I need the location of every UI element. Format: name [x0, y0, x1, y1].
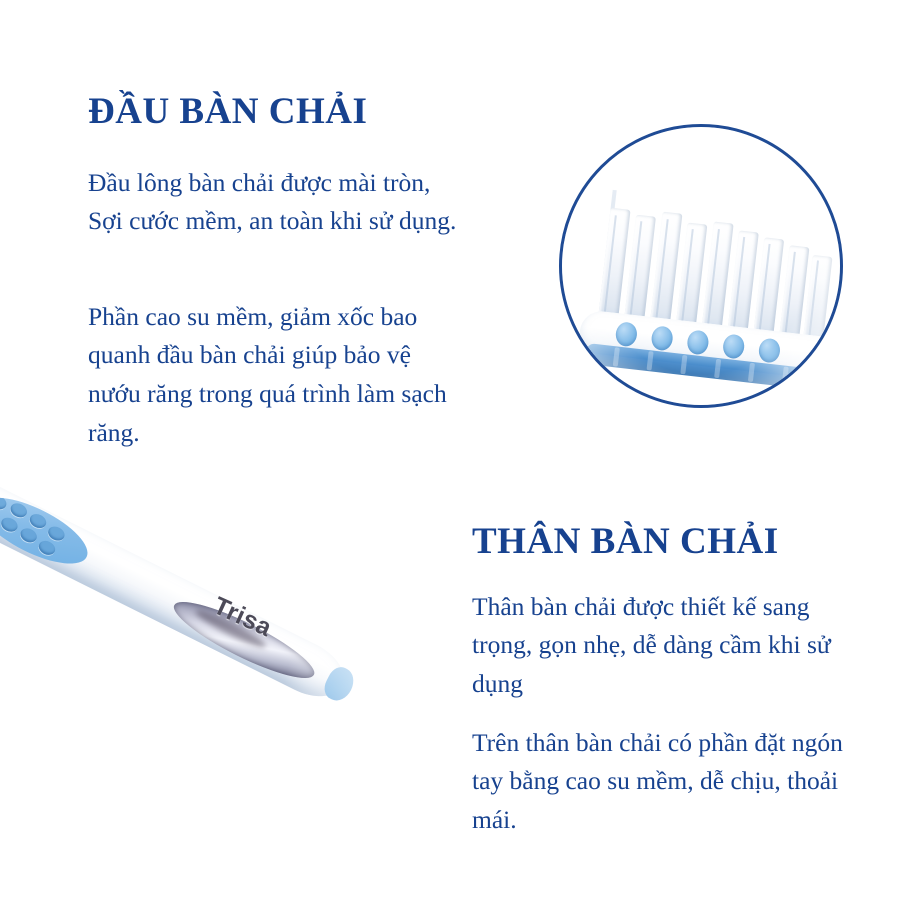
bristle-socket-dot [758, 337, 782, 363]
brush-body-paragraph-1: Thân bàn chải được thiết kế sang trọng, … [472, 588, 862, 704]
brush-body-heading: THÂN BÀN CHẢI [472, 523, 779, 562]
rubber-rib [782, 366, 789, 385]
rubber-rib [714, 359, 721, 378]
grip-dimple [46, 524, 67, 543]
rubber-rib [647, 351, 654, 370]
bristle-socket-dot [650, 325, 674, 351]
handle-shape: Trisa [0, 469, 368, 720]
grip-dimple [28, 511, 49, 530]
rubber-rib [748, 363, 755, 382]
brush-head-paragraph-1: Đầu lông bàn chải được mài tròn, Sợi cướ… [88, 164, 468, 242]
bristle-socket-dot [686, 329, 710, 355]
brush-head-photo-circle [559, 124, 843, 408]
rubber-rib [613, 347, 620, 366]
bristle-tuft [803, 255, 833, 345]
bristle-tuft [753, 237, 784, 339]
brush-handle-photo: Trisa [0, 452, 430, 752]
rubber-rib [680, 355, 687, 374]
product-infographic-page: ĐẦU BÀN CHẢI Đầu lông bàn chải được mài … [0, 0, 900, 900]
brush-body-paragraph-2: Trên thân bàn chải có phần đặt ngón tay … [472, 724, 872, 840]
bristle-socket-dot [722, 333, 746, 359]
grip-dimple [8, 501, 29, 520]
bristle-gap [578, 393, 594, 405]
grip-dimple [0, 515, 20, 534]
brush-head-photo-image [562, 127, 840, 405]
brush-head-paragraph-2: Phần cao su mềm, giảm xốc bao quanh đầu … [88, 298, 468, 453]
grip-dimple [18, 526, 39, 545]
grip-dimple [36, 538, 57, 557]
brush-head-heading: ĐẦU BÀN CHẢI [88, 93, 367, 132]
bristle-socket-dot [615, 321, 639, 347]
